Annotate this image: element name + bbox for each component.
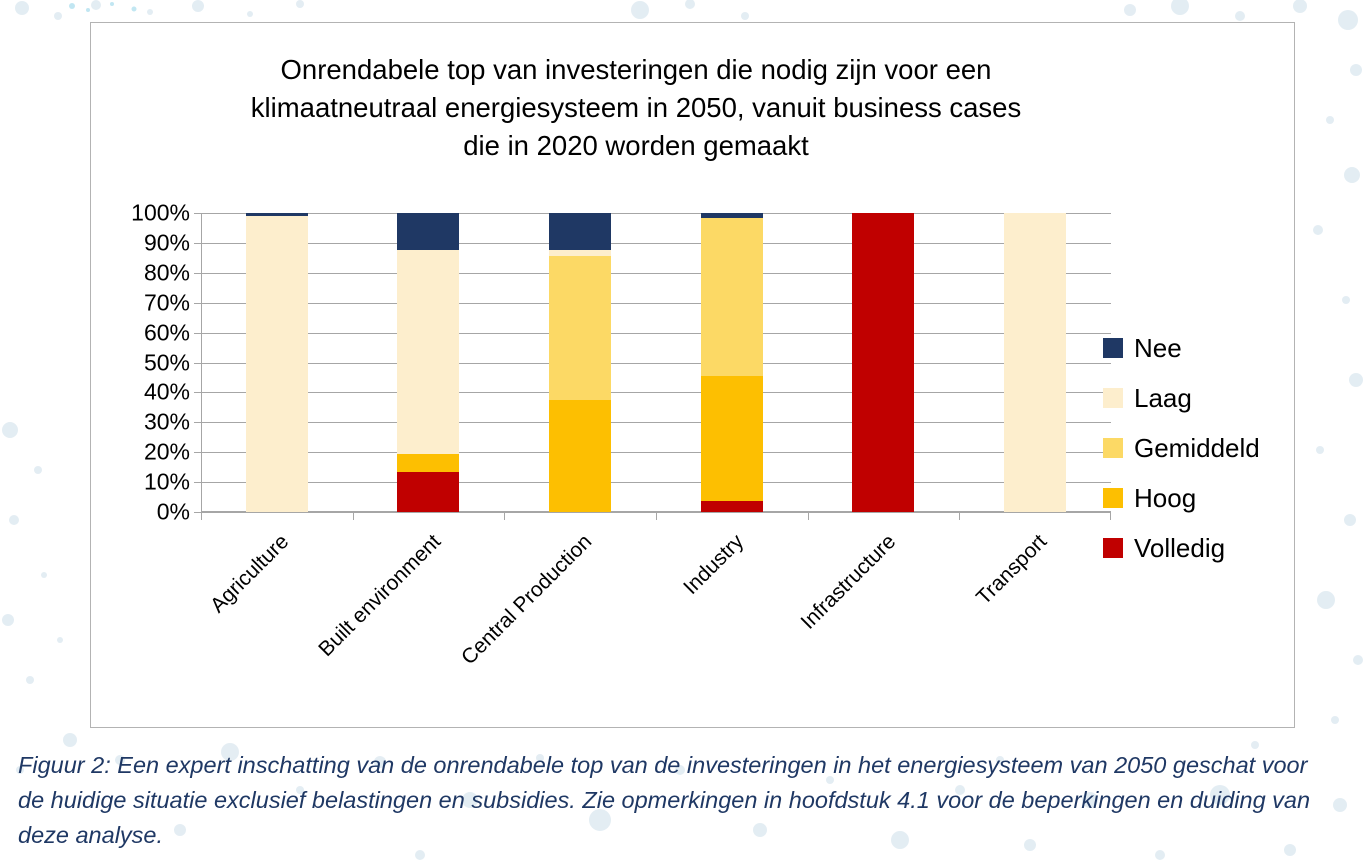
x-axis-tick — [959, 512, 960, 520]
legend-label: Nee — [1134, 333, 1182, 364]
bar-segment[interactable] — [549, 256, 611, 400]
bar-segment[interactable] — [397, 250, 459, 453]
chart-legend: NeeLaagGemiddeldHoogVolledig — [1103, 323, 1293, 573]
legend-swatch-icon — [1103, 388, 1123, 408]
legend-swatch-icon — [1103, 438, 1123, 458]
x-axis-tick — [353, 512, 354, 520]
y-axis-tick-label: 20% — [144, 439, 190, 466]
bar-segment[interactable] — [701, 218, 763, 376]
legend-item[interactable]: Hoog — [1103, 473, 1293, 523]
y-axis-tick-label: 50% — [144, 349, 190, 376]
y-axis-tick — [194, 273, 201, 274]
x-axis-tick-label: Agriculture — [206, 530, 294, 618]
y-axis-tick — [194, 363, 201, 364]
stacked-bar[interactable] — [246, 213, 308, 512]
stacked-bar[interactable] — [549, 213, 611, 512]
bar-segment[interactable] — [1004, 213, 1066, 512]
x-axis-tick-label: Transport — [972, 530, 1052, 610]
bar-slot — [656, 213, 808, 512]
y-axis-tick — [194, 303, 201, 304]
bar-slot — [808, 213, 960, 512]
y-axis-tick — [194, 422, 201, 423]
y-axis-tick — [194, 452, 201, 453]
legend-item[interactable]: Volledig — [1103, 523, 1293, 573]
bar-slot — [959, 213, 1111, 512]
legend-swatch-icon — [1103, 338, 1123, 358]
legend-item[interactable]: Gemiddeld — [1103, 423, 1293, 473]
y-axis-tick — [194, 392, 201, 393]
y-axis-tick — [194, 512, 201, 513]
y-axis-tick-label: 100% — [131, 200, 190, 227]
plot-area: 100%90%80%70%60%50%40%30%20%10%0% Agricu… — [201, 213, 1111, 512]
y-axis-tick-label: 10% — [144, 469, 190, 496]
bar-segment[interactable] — [397, 213, 459, 250]
y-axis-tick — [194, 243, 201, 244]
figure-caption: Figuur 2: Een expert inschatting van de … — [18, 748, 1338, 853]
chart-frame: Onrendabele top van investeringen die no… — [90, 22, 1295, 728]
x-axis-tick-label: Industry — [679, 530, 749, 600]
x-axis-tick — [808, 512, 809, 520]
legend-item[interactable]: Laag — [1103, 373, 1293, 423]
x-axis-tick — [201, 512, 202, 520]
y-axis-tick — [194, 333, 201, 334]
x-axis-tick — [656, 512, 657, 520]
bar-slot — [201, 213, 353, 512]
legend-label: Hoog — [1134, 483, 1196, 514]
x-axis-tick-label: Built environment — [314, 530, 446, 662]
x-axis-tick — [504, 512, 505, 520]
stacked-bar[interactable] — [852, 213, 914, 512]
bar-segment[interactable] — [397, 472, 459, 512]
stacked-bar[interactable] — [397, 213, 459, 512]
x-axis-tick-label: Infrastructure — [796, 530, 900, 634]
y-axis-tick — [194, 213, 201, 214]
legend-item[interactable]: Nee — [1103, 323, 1293, 373]
x-axis-tick-label: Central Production — [457, 530, 597, 670]
bar-segment[interactable] — [397, 454, 459, 472]
legend-swatch-icon — [1103, 538, 1123, 558]
bar-segment[interactable] — [549, 250, 611, 256]
y-axis-tick-label: 90% — [144, 229, 190, 256]
stacked-bar[interactable] — [1004, 213, 1066, 512]
legend-label: Gemiddeld — [1134, 433, 1260, 464]
y-axis-tick-label: 40% — [144, 379, 190, 406]
y-axis-tick-label: 0% — [157, 499, 190, 526]
y-axis-tick-label: 80% — [144, 259, 190, 286]
legend-label: Volledig — [1134, 533, 1225, 564]
bar-segment[interactable] — [701, 501, 763, 512]
bar-segment[interactable] — [549, 213, 611, 250]
bar-segment[interactable] — [549, 400, 611, 512]
bar-slot — [504, 213, 656, 512]
bar-segment[interactable] — [852, 213, 914, 512]
legend-label: Laag — [1134, 383, 1192, 414]
bar-segment[interactable] — [701, 376, 763, 501]
bar-slot — [353, 213, 505, 512]
y-axis-tick-label: 60% — [144, 319, 190, 346]
y-axis-tick — [194, 482, 201, 483]
bar-segment[interactable] — [246, 216, 308, 512]
legend-swatch-icon — [1103, 488, 1123, 508]
y-axis-tick-label: 30% — [144, 409, 190, 436]
y-axis-tick-label: 70% — [144, 289, 190, 316]
bar-segment[interactable] — [701, 213, 763, 217]
stacked-bar[interactable] — [701, 213, 763, 512]
bar-segment[interactable] — [246, 213, 308, 216]
